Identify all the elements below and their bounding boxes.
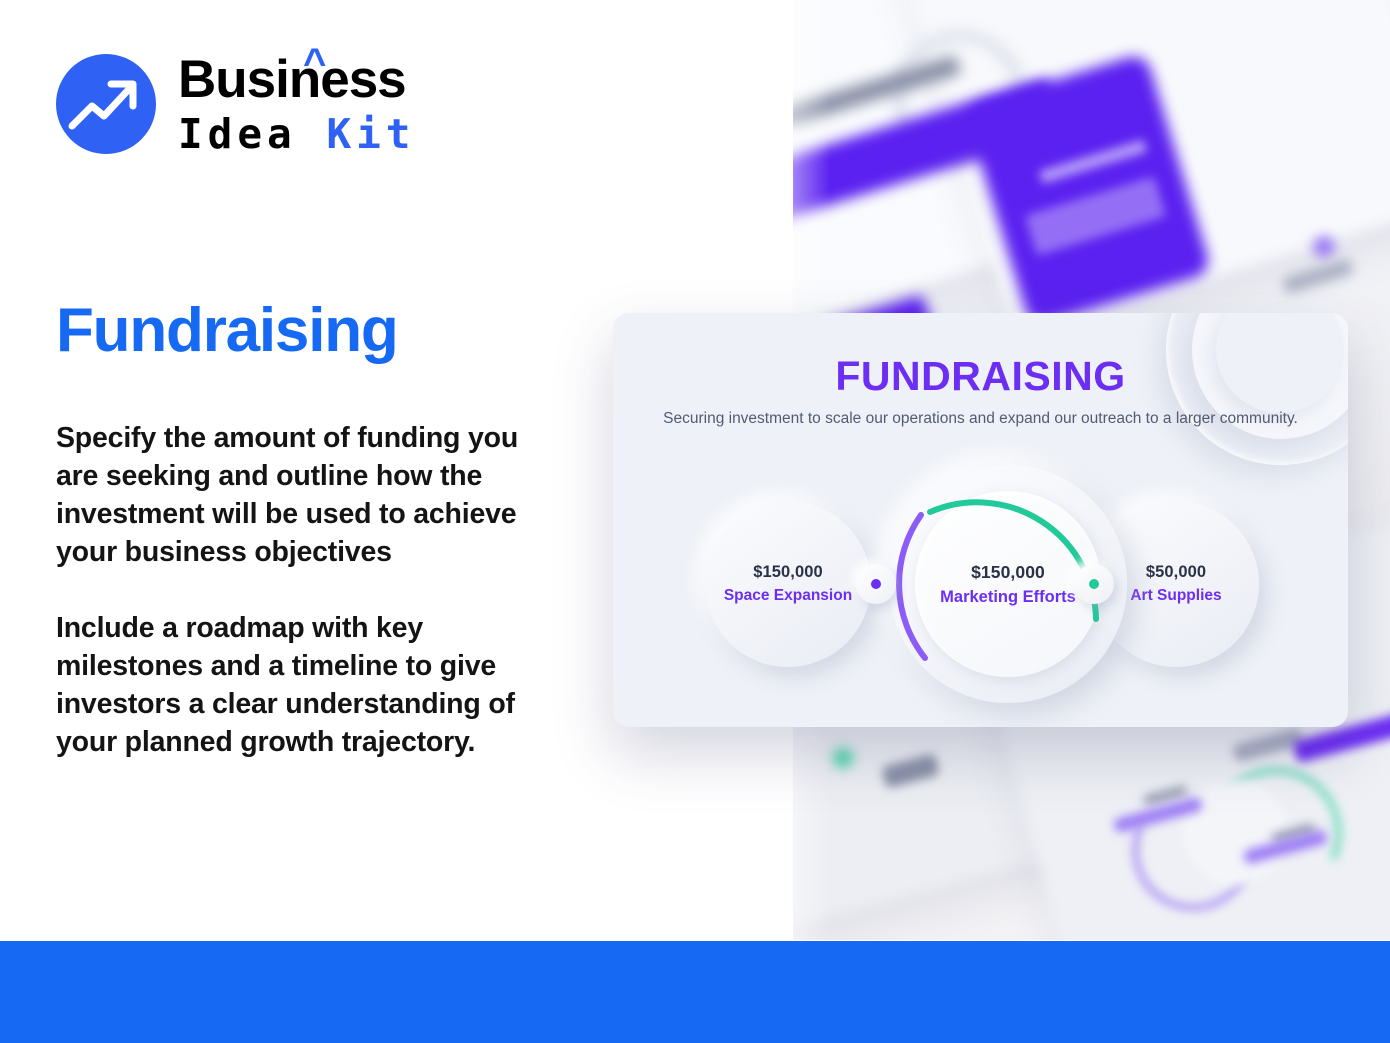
slide-title: FUNDRAISING — [613, 353, 1348, 400]
connector-node-right[interactable] — [1074, 564, 1114, 604]
brand-name-primary-text: Business — [178, 50, 406, 109]
brand-name-kit: Kit — [326, 110, 415, 158]
funding-category: Art Supplies — [1130, 587, 1221, 605]
funding-item-left[interactable]: $150,000 Space Expansion — [705, 501, 871, 667]
bg-inner-circle — [1183, 780, 1288, 885]
page-title: Fundraising — [56, 295, 398, 366]
brand-logo: Business ^ Idea Kit — [56, 53, 416, 155]
funding-amount: $50,000 — [1146, 563, 1206, 582]
connector-pip-green — [1089, 579, 1099, 589]
brand-name-primary: Business ^ — [178, 53, 416, 106]
brand-wordmark: Business ^ Idea Kit — [178, 53, 416, 155]
connector-pip-purple — [871, 579, 881, 589]
circumflex-accent-icon: ^ — [303, 43, 325, 83]
funding-category: Space Expansion — [724, 587, 852, 605]
bg-text-bar — [1282, 258, 1354, 294]
slide-subtitle: Securing investment to scale our operati… — [613, 409, 1348, 430]
slide-preview-card[interactable]: FUNDRAISING Securing investment to scale… — [613, 313, 1348, 727]
bg-purple-dot — [1313, 236, 1335, 258]
funding-amount: $150,000 — [971, 562, 1045, 583]
footer-bar — [0, 941, 1390, 1043]
connector-node-left[interactable] — [856, 564, 896, 604]
body-paragraph-2: Include a roadmap with key milestones an… — [56, 610, 566, 762]
funding-diagram: $150,000 Space Expansion $50,000 Art Sup… — [613, 465, 1348, 703]
brand-name-secondary: Idea Kit — [178, 114, 416, 155]
funding-amount: $150,000 — [753, 563, 823, 582]
body-paragraph-1: Specify the amount of funding you are se… — [56, 420, 566, 572]
funding-category: Marketing Efforts — [940, 588, 1076, 607]
bg-green-dot — [833, 748, 853, 768]
brand-name-idea: Idea — [178, 110, 297, 158]
slide-page: Business ^ Idea Kit Fundraising Specify … — [0, 0, 1390, 1043]
growth-arrow-icon — [56, 54, 156, 154]
